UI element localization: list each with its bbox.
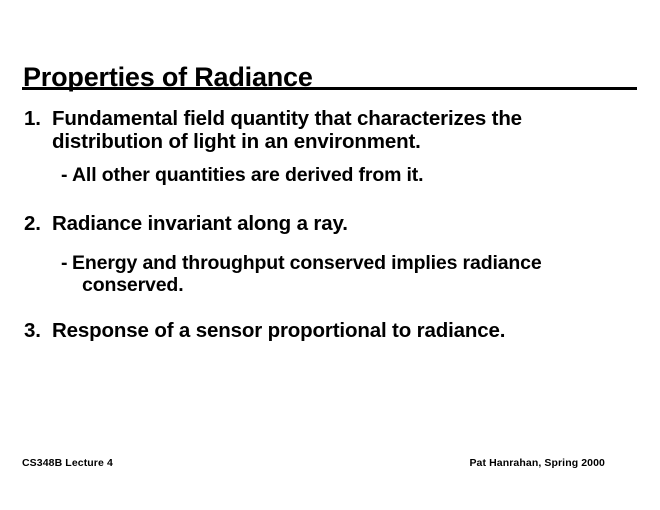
list-item: 3. Response of a sensor proportional to … <box>0 320 660 343</box>
sub-list-item-dash: - <box>61 252 67 274</box>
title-underline-rule <box>22 87 637 90</box>
list-item-number: 1. <box>24 108 50 131</box>
footer-course-label: CS348B Lecture 4 <box>22 457 113 469</box>
list-item-text: Fundamental field quantity that characte… <box>52 108 580 153</box>
footer-author-label: Pat Hanrahan, Spring 2000 <box>469 457 605 469</box>
sub-list-item: - All other quantities are derived from … <box>0 164 660 186</box>
slide-canvas: Properties of Radiance 1. Fundamental fi… <box>0 0 660 510</box>
sub-list-item-dash: - <box>61 164 67 186</box>
list-item-number: 2. <box>24 213 50 236</box>
list-item: 2. Radiance invariant along a ray. <box>0 213 660 236</box>
sub-list-item-text: All other quantities are derived from it… <box>72 164 606 186</box>
sub-list-item-text: Energy and throughput conserved implies … <box>72 252 616 296</box>
list-item-number: 3. <box>24 320 50 343</box>
list-item: 1. Fundamental field quantity that chara… <box>0 108 660 153</box>
sub-list-item: - Energy and throughput conserved implie… <box>0 252 660 296</box>
list-item-text: Response of a sensor proportional to rad… <box>52 320 580 343</box>
list-item-text: Radiance invariant along a ray. <box>52 213 580 236</box>
